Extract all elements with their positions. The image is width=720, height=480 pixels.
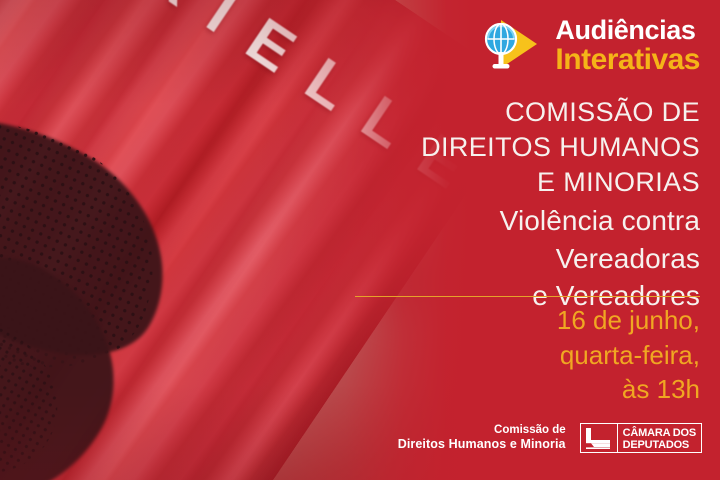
camara-wordmark: CÂMARA DOS DEPUTADOS xyxy=(618,424,701,452)
committee-credit-line-1: Comissão de xyxy=(398,424,566,438)
date-line-3: às 13h xyxy=(557,372,700,407)
event-title: COMISSÃO DE DIREITOS HUMANOS E MINORIAS … xyxy=(280,95,700,314)
event-date: 16 de junho, quarta-feira, às 13h xyxy=(557,303,700,407)
subject-line-2: Vereadoras xyxy=(280,240,700,277)
title-line-3: E MINORIAS xyxy=(280,165,700,200)
microphone-play-icon xyxy=(477,14,549,76)
logo-line-1: Audiências xyxy=(555,17,700,44)
event-poster: MARIELLE Audiênci xyxy=(0,0,720,480)
logo-wordmark: Audiências Interativas xyxy=(555,15,700,75)
title-line-2: DIREITOS HUMANOS xyxy=(280,130,700,165)
audiencias-interativas-logo: Audiências Interativas xyxy=(477,14,700,76)
event-subject: Violência contra Vereadoras e Vereadores xyxy=(280,202,700,314)
committee-credit-line-2: Direitos Humanos e Minoria xyxy=(398,437,566,452)
camara-line-1: CÂMARA DOS xyxy=(623,427,696,439)
camara-dos-deputados-logo: CÂMARA DOS DEPUTADOS xyxy=(580,423,702,453)
date-line-1: 16 de junho, xyxy=(557,303,700,338)
committee-name: COMISSÃO DE DIREITOS HUMANOS E MINORIAS xyxy=(280,95,700,200)
poster-content: Audiências Interativas COMISSÃO DE DIREI… xyxy=(0,0,720,480)
date-line-2: quarta-feira, xyxy=(557,338,700,373)
title-line-1: COMISSÃO DE xyxy=(280,95,700,130)
camara-line-2: DEPUTADOS xyxy=(623,439,696,451)
poster-footer: Comissão de Direitos Humanos e Minoria C… xyxy=(398,423,702,453)
subject-line-1: Violência contra xyxy=(280,202,700,239)
committee-credit: Comissão de Direitos Humanos e Minoria xyxy=(398,424,566,453)
gold-divider xyxy=(355,296,700,297)
congress-building-icon xyxy=(581,424,618,452)
logo-line-2: Interativas xyxy=(555,45,700,75)
